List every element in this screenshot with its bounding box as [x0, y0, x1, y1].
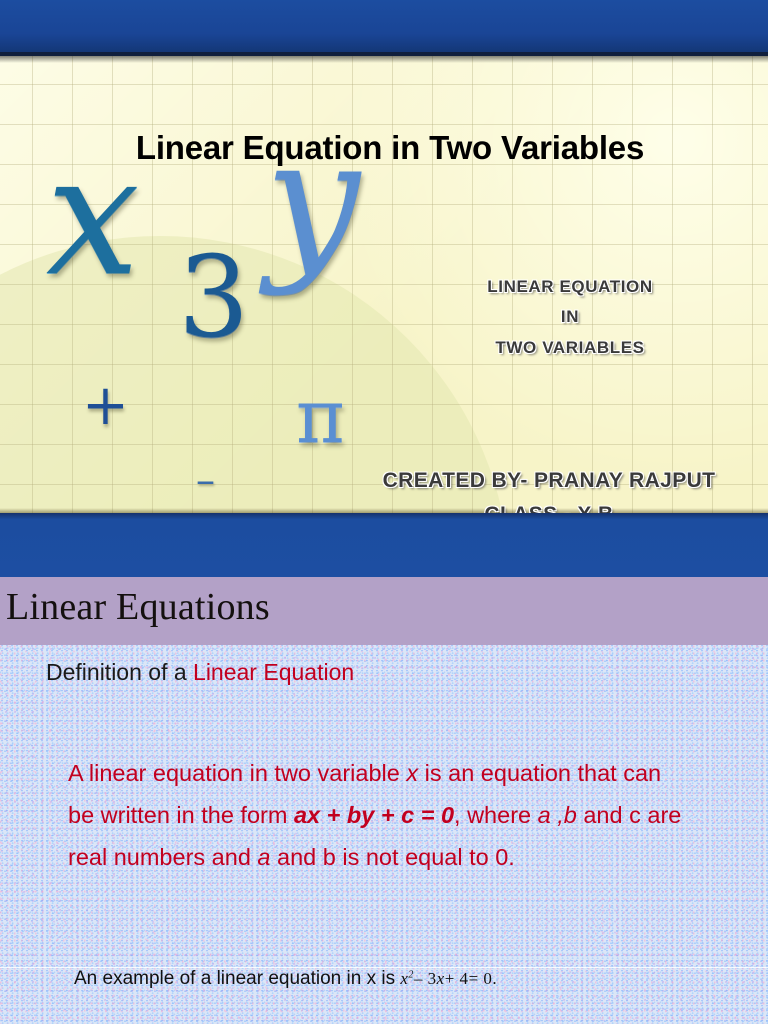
- paper-top-shadow: [0, 56, 768, 63]
- paragraph-part-3: , where: [454, 802, 538, 828]
- example-equation: x2– 3x+ 4= 0.: [400, 969, 497, 988]
- paragraph-part-1: A linear equation in two variable: [68, 760, 406, 786]
- equation-variable: x: [437, 969, 445, 988]
- credit-class: CLASS - X B: [330, 498, 768, 513]
- decor-minus-icon: –: [196, 461, 215, 499]
- slide2-body: Definition of a Linear Equation A linear…: [0, 645, 768, 1024]
- slide-top-blue-band: [0, 0, 768, 56]
- paragraph-variable-x: x: [406, 760, 418, 786]
- definition-prefix: Definition of a: [46, 659, 193, 685]
- subtitle-line-1: LINEAR EQUATION: [400, 272, 740, 302]
- slide-linear-equations: Linear Equations Definition of a Linear …: [0, 577, 768, 1024]
- decor-plus-icon: +: [82, 378, 129, 434]
- paragraph-part-5: and b is not equal to 0.: [271, 844, 515, 870]
- decor-pi-icon: π: [296, 380, 345, 454]
- slide-credit-block: CREATED BY- PRANAY RAJPUT CLASS - X B RO…: [330, 464, 768, 513]
- paragraph-variable-ab: a ,b: [538, 802, 577, 828]
- slide-subtitle: LINEAR EQUATION IN TWO VARIABLES: [400, 272, 740, 363]
- equation-rest-1: – 3: [414, 969, 437, 988]
- paragraph-formula: ax + by + c = 0: [294, 802, 454, 828]
- presentation-page: x y 3 + π – Linear Equation in Two Varia…: [0, 0, 768, 1024]
- definition-highlight: Linear Equation: [193, 659, 354, 685]
- definition-paragraph: A linear equation in two variable x is a…: [68, 753, 688, 878]
- slide-paper-background: x y 3 + π – Linear Equation in Two Varia…: [0, 56, 768, 513]
- credit-author: CREATED BY- PRANAY RAJPUT: [330, 464, 768, 498]
- slide-title: Linear Equation in Two Variables: [90, 128, 690, 168]
- slide-bottom-blue-band: [0, 513, 768, 577]
- definition-heading: Definition of a Linear Equation: [46, 659, 354, 686]
- subtitle-line-3: TWO VARIABLES: [400, 333, 740, 363]
- equation-rest-2: + 4: [445, 969, 469, 988]
- decor-three-icon: 3: [178, 242, 249, 354]
- paragraph-variable-a: a: [257, 844, 270, 870]
- subtitle-line-2: IN: [400, 302, 740, 332]
- example-line: An example of a linear equation in x is …: [74, 968, 734, 990]
- equation-period: .: [492, 969, 497, 988]
- slide2-title: Linear Equations: [6, 585, 270, 629]
- equation-equals: = 0: [469, 969, 493, 988]
- slide-title-slide: x y 3 + π – Linear Equation in Two Varia…: [0, 0, 768, 577]
- slide2-header-band: Linear Equations: [0, 577, 768, 645]
- example-text: An example of a linear equation in x is: [74, 968, 395, 989]
